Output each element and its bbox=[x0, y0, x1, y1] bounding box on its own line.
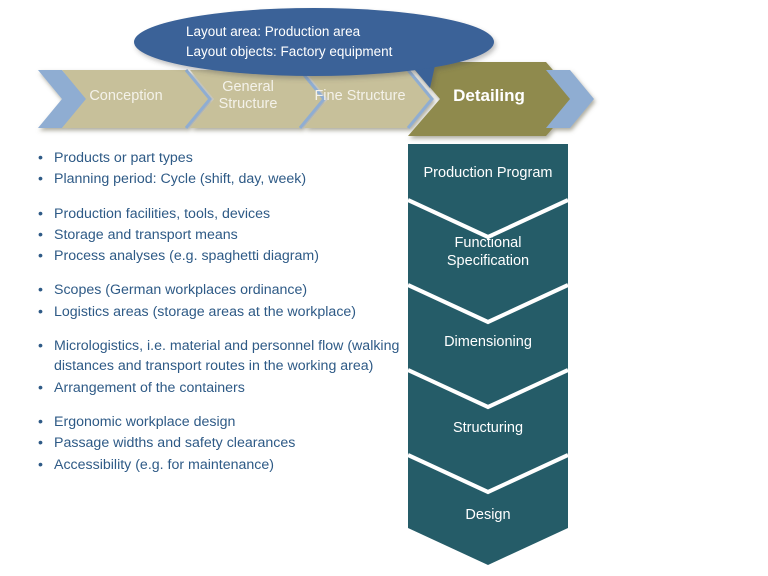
chevron-step-functional-specification[interactable]: Functional Specification bbox=[408, 234, 568, 270]
bullet-text: Accessibility (e.g. for maintenance) bbox=[54, 455, 410, 475]
bullet-item: •Ergonomic workplace design bbox=[38, 412, 410, 432]
bullet-item: •Logistics areas (storage areas at the w… bbox=[38, 302, 410, 322]
production-program-details: •Products or part types•Planning period:… bbox=[38, 148, 410, 190]
bullet-text: Logistics areas (storage areas at the wo… bbox=[54, 302, 410, 322]
phase-label-detailing[interactable]: Detailing bbox=[424, 86, 554, 106]
phase-label-general-structure[interactable]: General Structure bbox=[186, 79, 310, 113]
detail-bullet-list: •Products or part types•Planning period:… bbox=[38, 148, 410, 476]
bullet-dot-icon: • bbox=[38, 302, 54, 322]
bullet-dot-icon: • bbox=[38, 148, 54, 168]
bullet-dot-icon: • bbox=[38, 336, 54, 356]
bullet-dot-icon: • bbox=[38, 280, 54, 300]
bullet-item: •Process analyses (e.g. spaghetti diagra… bbox=[38, 246, 410, 266]
dimensioning-details: •Scopes (German workplaces ordinance)•Lo… bbox=[38, 280, 410, 322]
bullet-text: Process analyses (e.g. spaghetti diagram… bbox=[54, 246, 410, 266]
bullet-text: Passage widths and safety clearances bbox=[54, 433, 410, 453]
bullet-dot-icon: • bbox=[38, 378, 54, 398]
functional-specification-details: •Production facilities, tools, devices•S… bbox=[38, 204, 410, 267]
bullet-item: •Production facilities, tools, devices bbox=[38, 204, 410, 224]
bullet-item: •Scopes (German workplaces ordinance) bbox=[38, 280, 410, 300]
chevron-step-production-program[interactable]: Production Program bbox=[408, 164, 568, 182]
bullet-item: •Storage and transport means bbox=[38, 225, 410, 245]
callout-bubble-label: Layout area: Production area Layout obje… bbox=[186, 22, 466, 61]
bullet-text: Production facilities, tools, devices bbox=[54, 204, 410, 224]
chevron-step-dimensioning[interactable]: Dimensioning bbox=[408, 333, 568, 351]
bullet-dot-icon: • bbox=[38, 412, 54, 432]
bullet-item: •Planning period: Cycle (shift, day, wee… bbox=[38, 169, 410, 189]
bullet-dot-icon: • bbox=[38, 433, 54, 453]
bullet-text: Micrologistics, i.e. material and person… bbox=[54, 336, 410, 377]
bullet-text: Scopes (German workplaces ordinance) bbox=[54, 280, 410, 300]
chevron-step-design[interactable]: Design bbox=[408, 506, 568, 524]
bullet-dot-icon: • bbox=[38, 169, 54, 189]
bullet-item: •Passage widths and safety clearances bbox=[38, 433, 410, 453]
chevron-stack-group bbox=[408, 144, 568, 565]
design-details: •Ergonomic workplace design•Passage widt… bbox=[38, 412, 410, 475]
bullet-text: Arrangement of the containers bbox=[54, 378, 410, 398]
bullet-dot-icon: • bbox=[38, 225, 54, 245]
bullet-text: Planning period: Cycle (shift, day, week… bbox=[54, 169, 410, 189]
bullet-dot-icon: • bbox=[38, 455, 54, 475]
bullet-item: •Products or part types bbox=[38, 148, 410, 168]
slide-canvas: Layout area: Production area Layout obje… bbox=[0, 0, 768, 576]
chevron-stack-body bbox=[408, 144, 568, 565]
bullet-item: •Arrangement of the containers bbox=[38, 378, 410, 398]
bullet-text: Storage and transport means bbox=[54, 225, 410, 245]
bullet-item: •Micrologistics, i.e. material and perso… bbox=[38, 336, 410, 377]
chevron-step-structuring[interactable]: Structuring bbox=[408, 419, 568, 437]
structuring-design-details: •Micrologistics, i.e. material and perso… bbox=[38, 336, 410, 398]
bullet-text: Products or part types bbox=[54, 148, 410, 168]
bullet-dot-icon: • bbox=[38, 246, 54, 266]
phase-label-conception[interactable]: Conception bbox=[62, 88, 190, 105]
bullet-text: Ergonomic workplace design bbox=[54, 412, 410, 432]
bullet-item: •Accessibility (e.g. for maintenance) bbox=[38, 455, 410, 475]
bullet-dot-icon: • bbox=[38, 204, 54, 224]
phase-label-fine-structure[interactable]: Fine Structure bbox=[300, 88, 420, 105]
